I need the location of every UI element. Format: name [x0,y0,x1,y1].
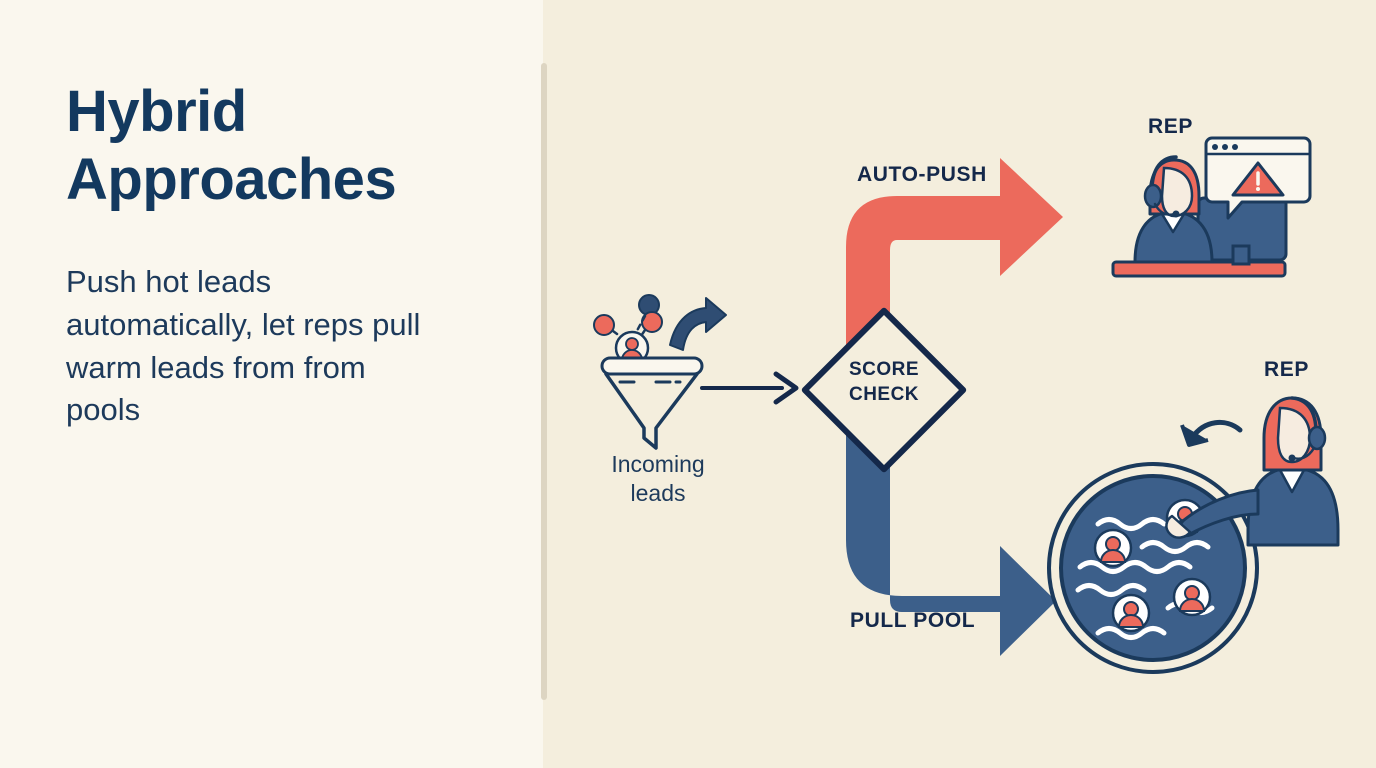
auto-push-label: AUTO-PUSH [857,163,987,187]
score-check-label: SCORE CHECK [818,358,950,407]
funnel-curved-arrow-icon [670,298,726,350]
slide-canvas: Hybrid Approaches Push hot leads automat… [0,0,1376,768]
rep-pool-label: REP [1264,358,1309,382]
pull-pool-label: PULL POOL [850,609,975,633]
pull-into-pool-arrow-icon [1182,422,1240,445]
pool-lead-avatar [1095,530,1131,566]
rep-at-desk-icon [1113,138,1310,276]
pool-lead-avatar [1174,579,1210,615]
pool-lead-avatar [1113,595,1149,631]
arrow-right-icon [702,374,796,402]
lead-pool-icon [1049,464,1257,672]
incoming-leads-caption: Incoming leads [578,450,738,508]
rep-desk-label: REP [1148,115,1193,139]
